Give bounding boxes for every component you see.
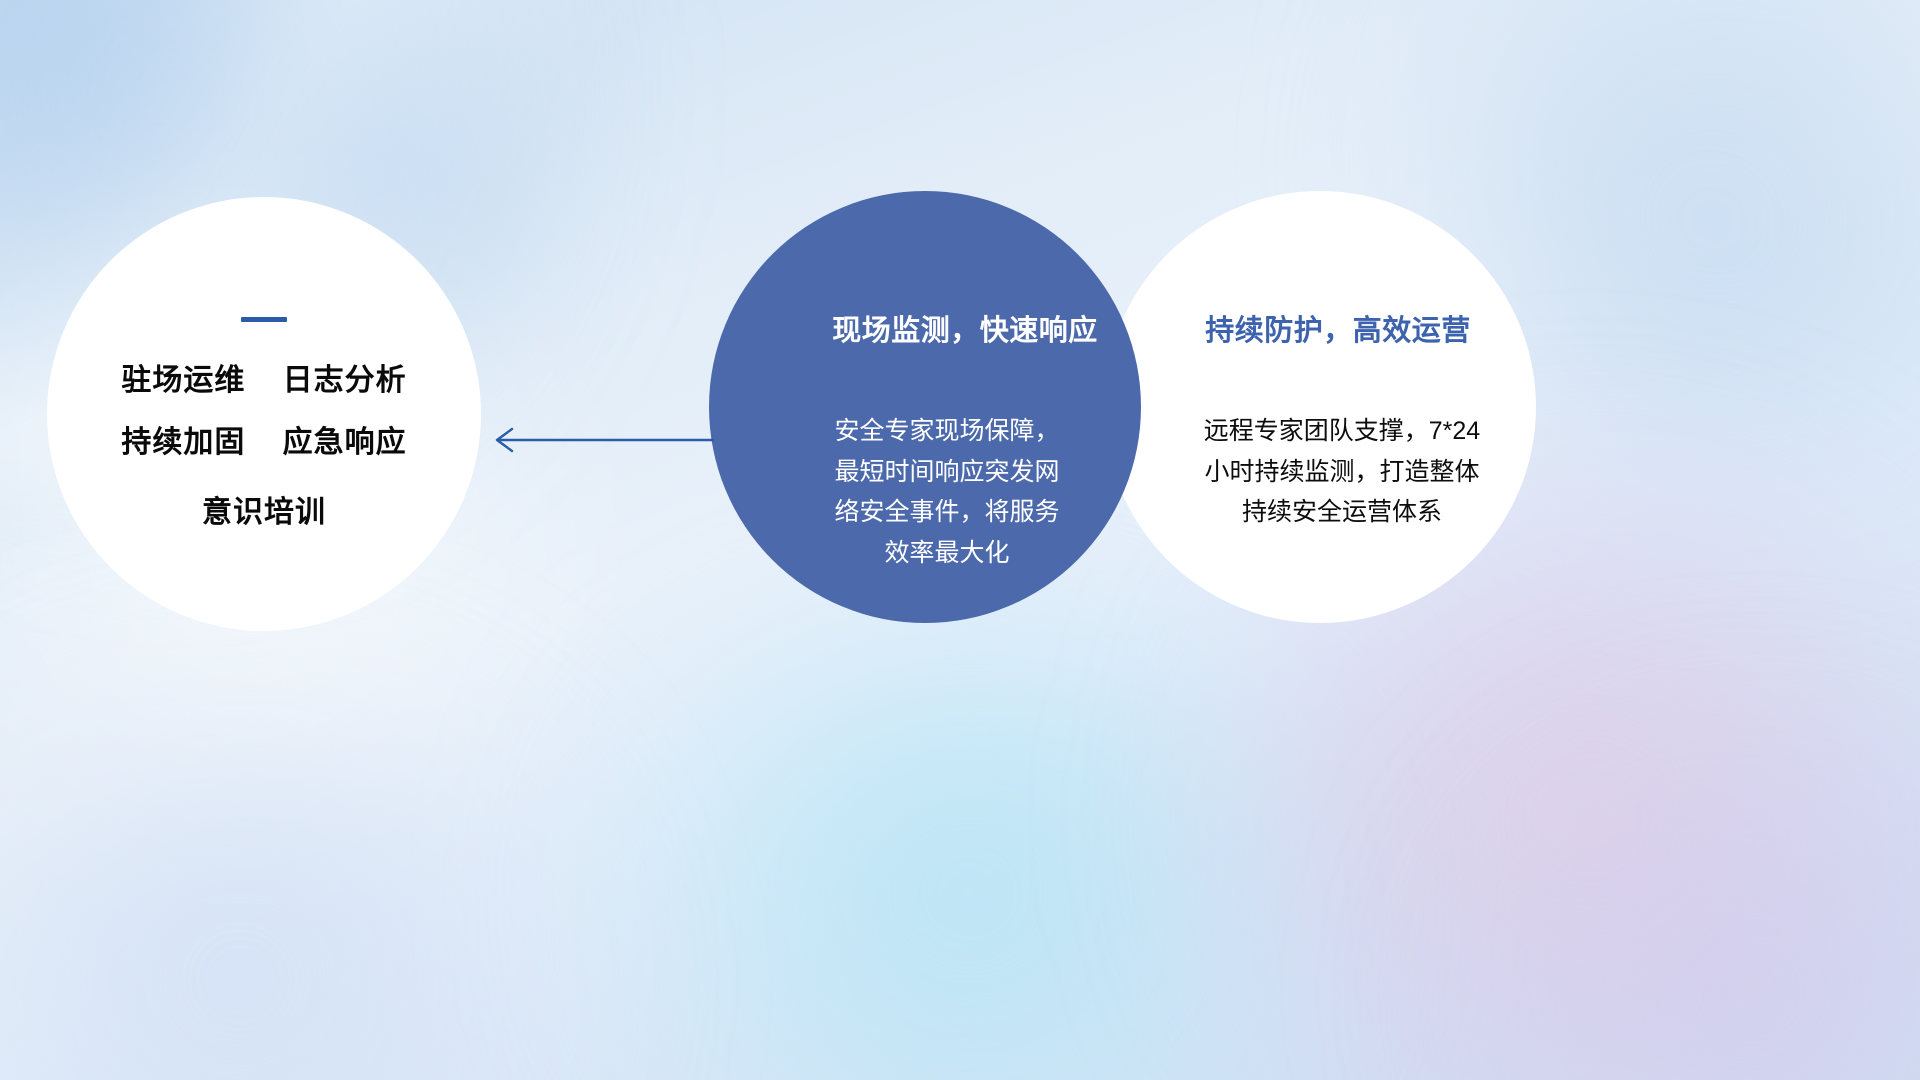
left-circle-line: 持续加固 应急响应 bbox=[47, 428, 481, 458]
right-circle-body: 远程专家团队支撑，7*24 小时持续监测，打造整体 持续安全运营体系 bbox=[1136, 411, 1548, 533]
right-body-line: 小时持续监测，打造整体 bbox=[1136, 452, 1548, 493]
slide-canvas: 持续防护，高效运营 远程专家团队支撑，7*24 小时持续监测，打造整体 持续安全… bbox=[0, 0, 1920, 1080]
right-body-line: 远程专家团队支撑，7*24 bbox=[1136, 411, 1548, 452]
middle-circle-content: 现场监测，快速响应 安全专家现场保障， 最短时间响应突发网 络安全事件，将服务 … bbox=[709, 191, 1141, 623]
onsite-monitoring-circle[interactable]: 现场监测，快速响应 安全专家现场保障， 最短时间响应突发网 络安全事件，将服务 … bbox=[709, 191, 1141, 623]
middle-body-line: 最短时间响应突发网 bbox=[777, 452, 1117, 493]
middle-body-line: 安全专家现场保障， bbox=[777, 411, 1117, 452]
arrow-left-icon bbox=[497, 429, 714, 451]
right-body-line: 持续安全运营体系 bbox=[1136, 492, 1548, 533]
left-circle-line: 意识培训 bbox=[47, 498, 481, 528]
right-circle-title: 持续防护，高效运营 bbox=[1122, 307, 1554, 349]
middle-body-line: 络安全事件，将服务 bbox=[777, 492, 1117, 533]
middle-circle-title: 现场监测，快速响应 bbox=[749, 307, 1181, 349]
middle-circle-body: 安全专家现场保障， 最短时间响应突发网 络安全事件，将服务 效率最大化 bbox=[777, 411, 1117, 573]
leftward-flow-arrow bbox=[488, 418, 716, 462]
continuous-protection-circle[interactable]: 持续防护，高效运营 远程专家团队支撑，7*24 小时持续监测，打造整体 持续安全… bbox=[1104, 191, 1536, 623]
left-circle-line: 驻场运维 日志分析 bbox=[47, 366, 481, 396]
service-capability-circle[interactable]: 驻场运维 日志分析 持续加固 应急响应 意识培训 bbox=[47, 197, 481, 631]
right-circle-content: 持续防护，高效运营 远程专家团队支撑，7*24 小时持续监测，打造整体 持续安全… bbox=[1104, 191, 1536, 623]
left-circle-content: 驻场运维 日志分析 持续加固 应急响应 意识培训 bbox=[47, 317, 481, 528]
horizontal-dash-icon bbox=[241, 317, 287, 322]
middle-body-line: 效率最大化 bbox=[777, 533, 1117, 574]
